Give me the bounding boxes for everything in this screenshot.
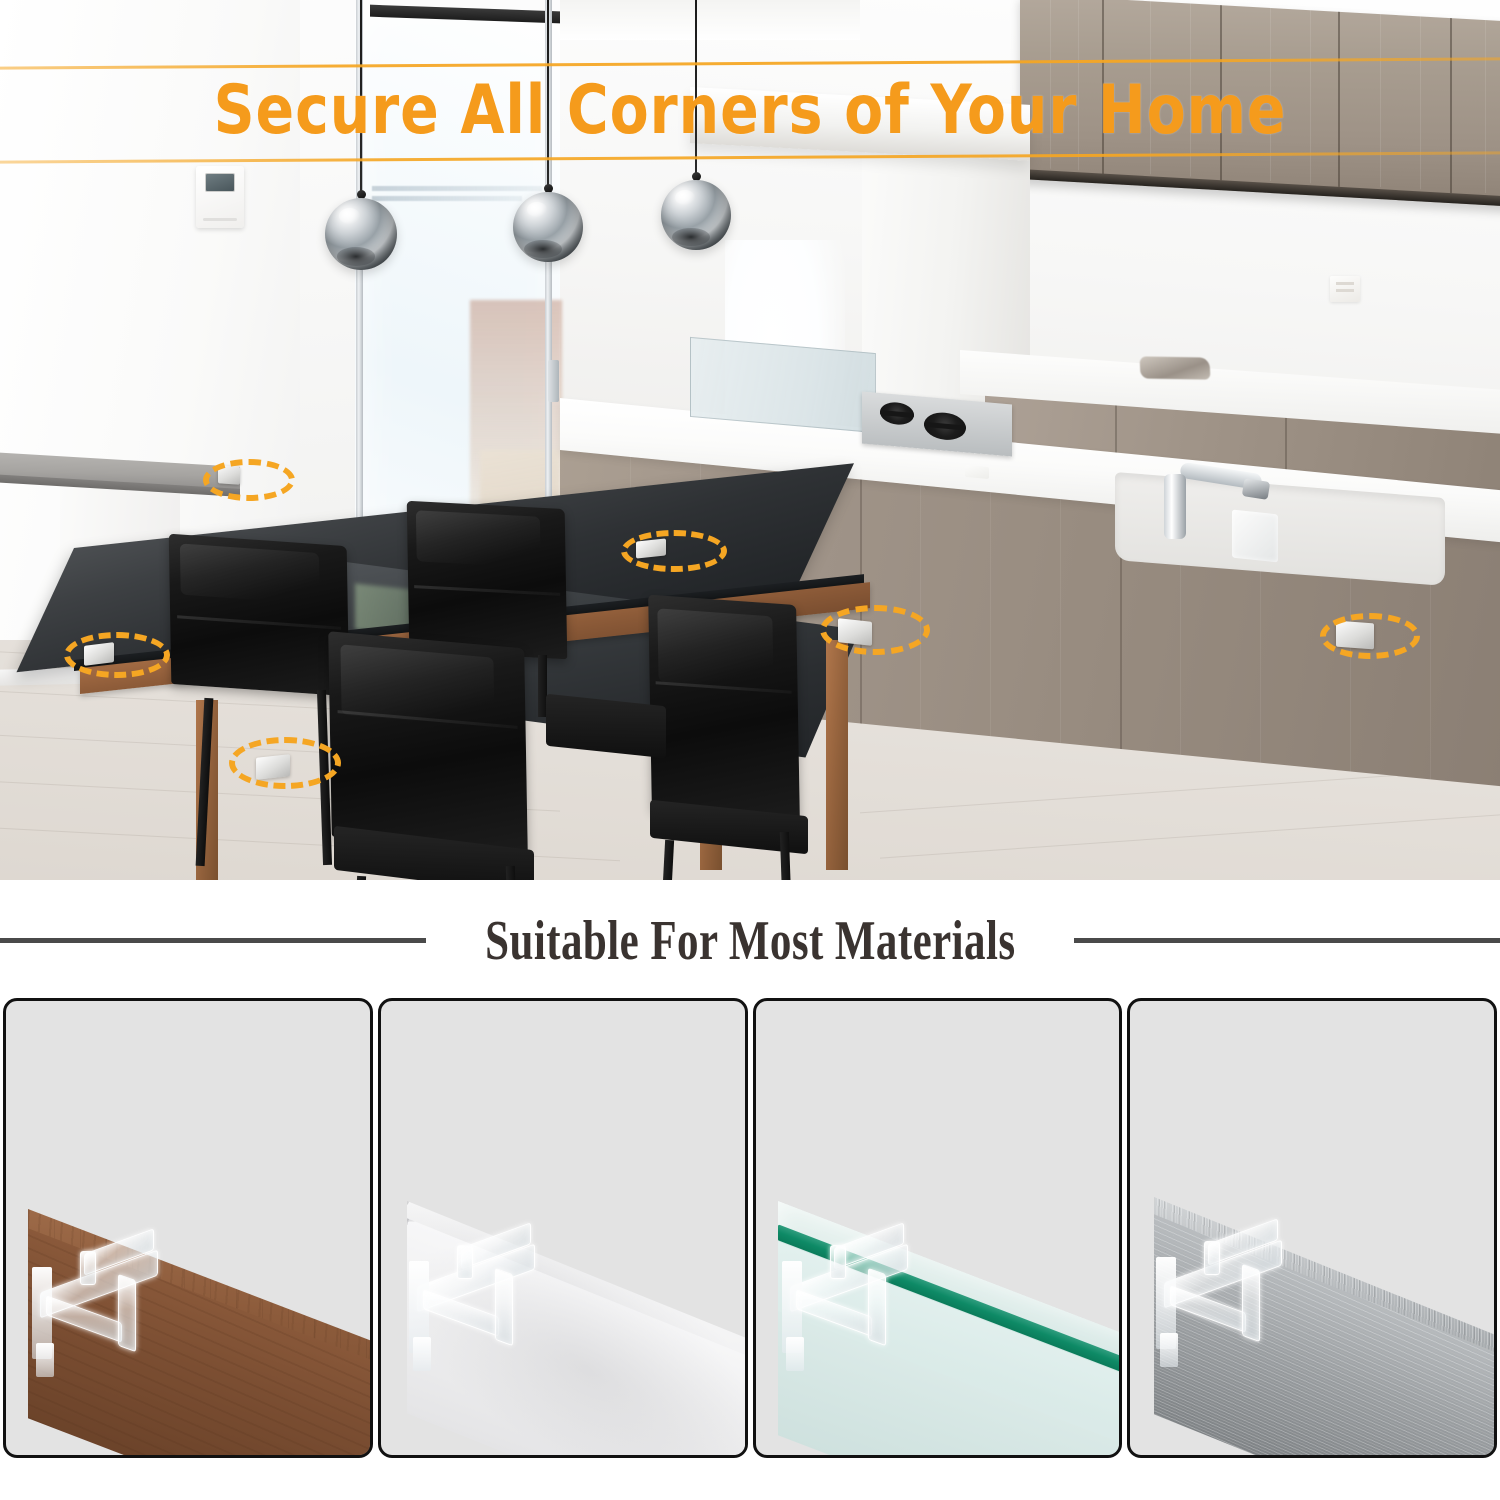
metal-surface-front <box>1154 1214 1497 1458</box>
control-panel-screen <box>205 173 235 192</box>
material-panel-wood <box>3 998 373 1458</box>
wood-surface-front <box>28 1228 373 1458</box>
ceiling-strip <box>560 0 860 40</box>
materials-section-title: Suitable For Most Materials <box>471 908 1029 973</box>
wood-table-corner <box>28 1209 373 1458</box>
material-panel-glass <box>753 998 1123 1458</box>
highlight-table-right-corner <box>820 605 930 655</box>
hero-kitchen-photo: Secure All Corners of Your Home <box>0 0 1500 880</box>
highlight-table-far-left <box>64 632 170 678</box>
highlight-side-table-corner <box>203 459 295 501</box>
island-switch <box>965 465 989 479</box>
materials-panel-row <box>0 998 1500 1460</box>
metal-table-corner <box>1154 1197 1497 1447</box>
faucet-head <box>1242 478 1270 500</box>
marble-surface-front <box>407 1218 748 1458</box>
marble-table-corner <box>407 1201 748 1451</box>
materials-heading-band: Suitable For Most Materials <box>0 880 1500 995</box>
highlight-table-front-corner <box>229 737 341 789</box>
door-latch <box>548 360 559 402</box>
cooktop-splash-guard <box>690 337 876 433</box>
heading-rule-left <box>0 938 426 943</box>
material-panel-marble <box>378 998 748 1458</box>
hero-headline: Secure All Corners of Your Home <box>53 64 1448 156</box>
highlight-island-corner <box>1320 613 1420 659</box>
highlight-table-back-left <box>621 530 727 572</box>
heading-rule-right <box>1074 938 1500 943</box>
faucet-body <box>1164 474 1186 539</box>
soap-dispenser <box>1232 510 1278 563</box>
folded-cloth <box>1139 356 1210 379</box>
wall-control-panel <box>196 166 244 228</box>
material-panel-metal <box>1127 998 1497 1458</box>
dining-table-leg-right <box>826 640 848 870</box>
power-outlet <box>1330 276 1360 302</box>
glass-table-corner <box>778 1201 1123 1451</box>
product-infographic: Secure All Corners of Your Home Suitable… <box>0 0 1500 1500</box>
